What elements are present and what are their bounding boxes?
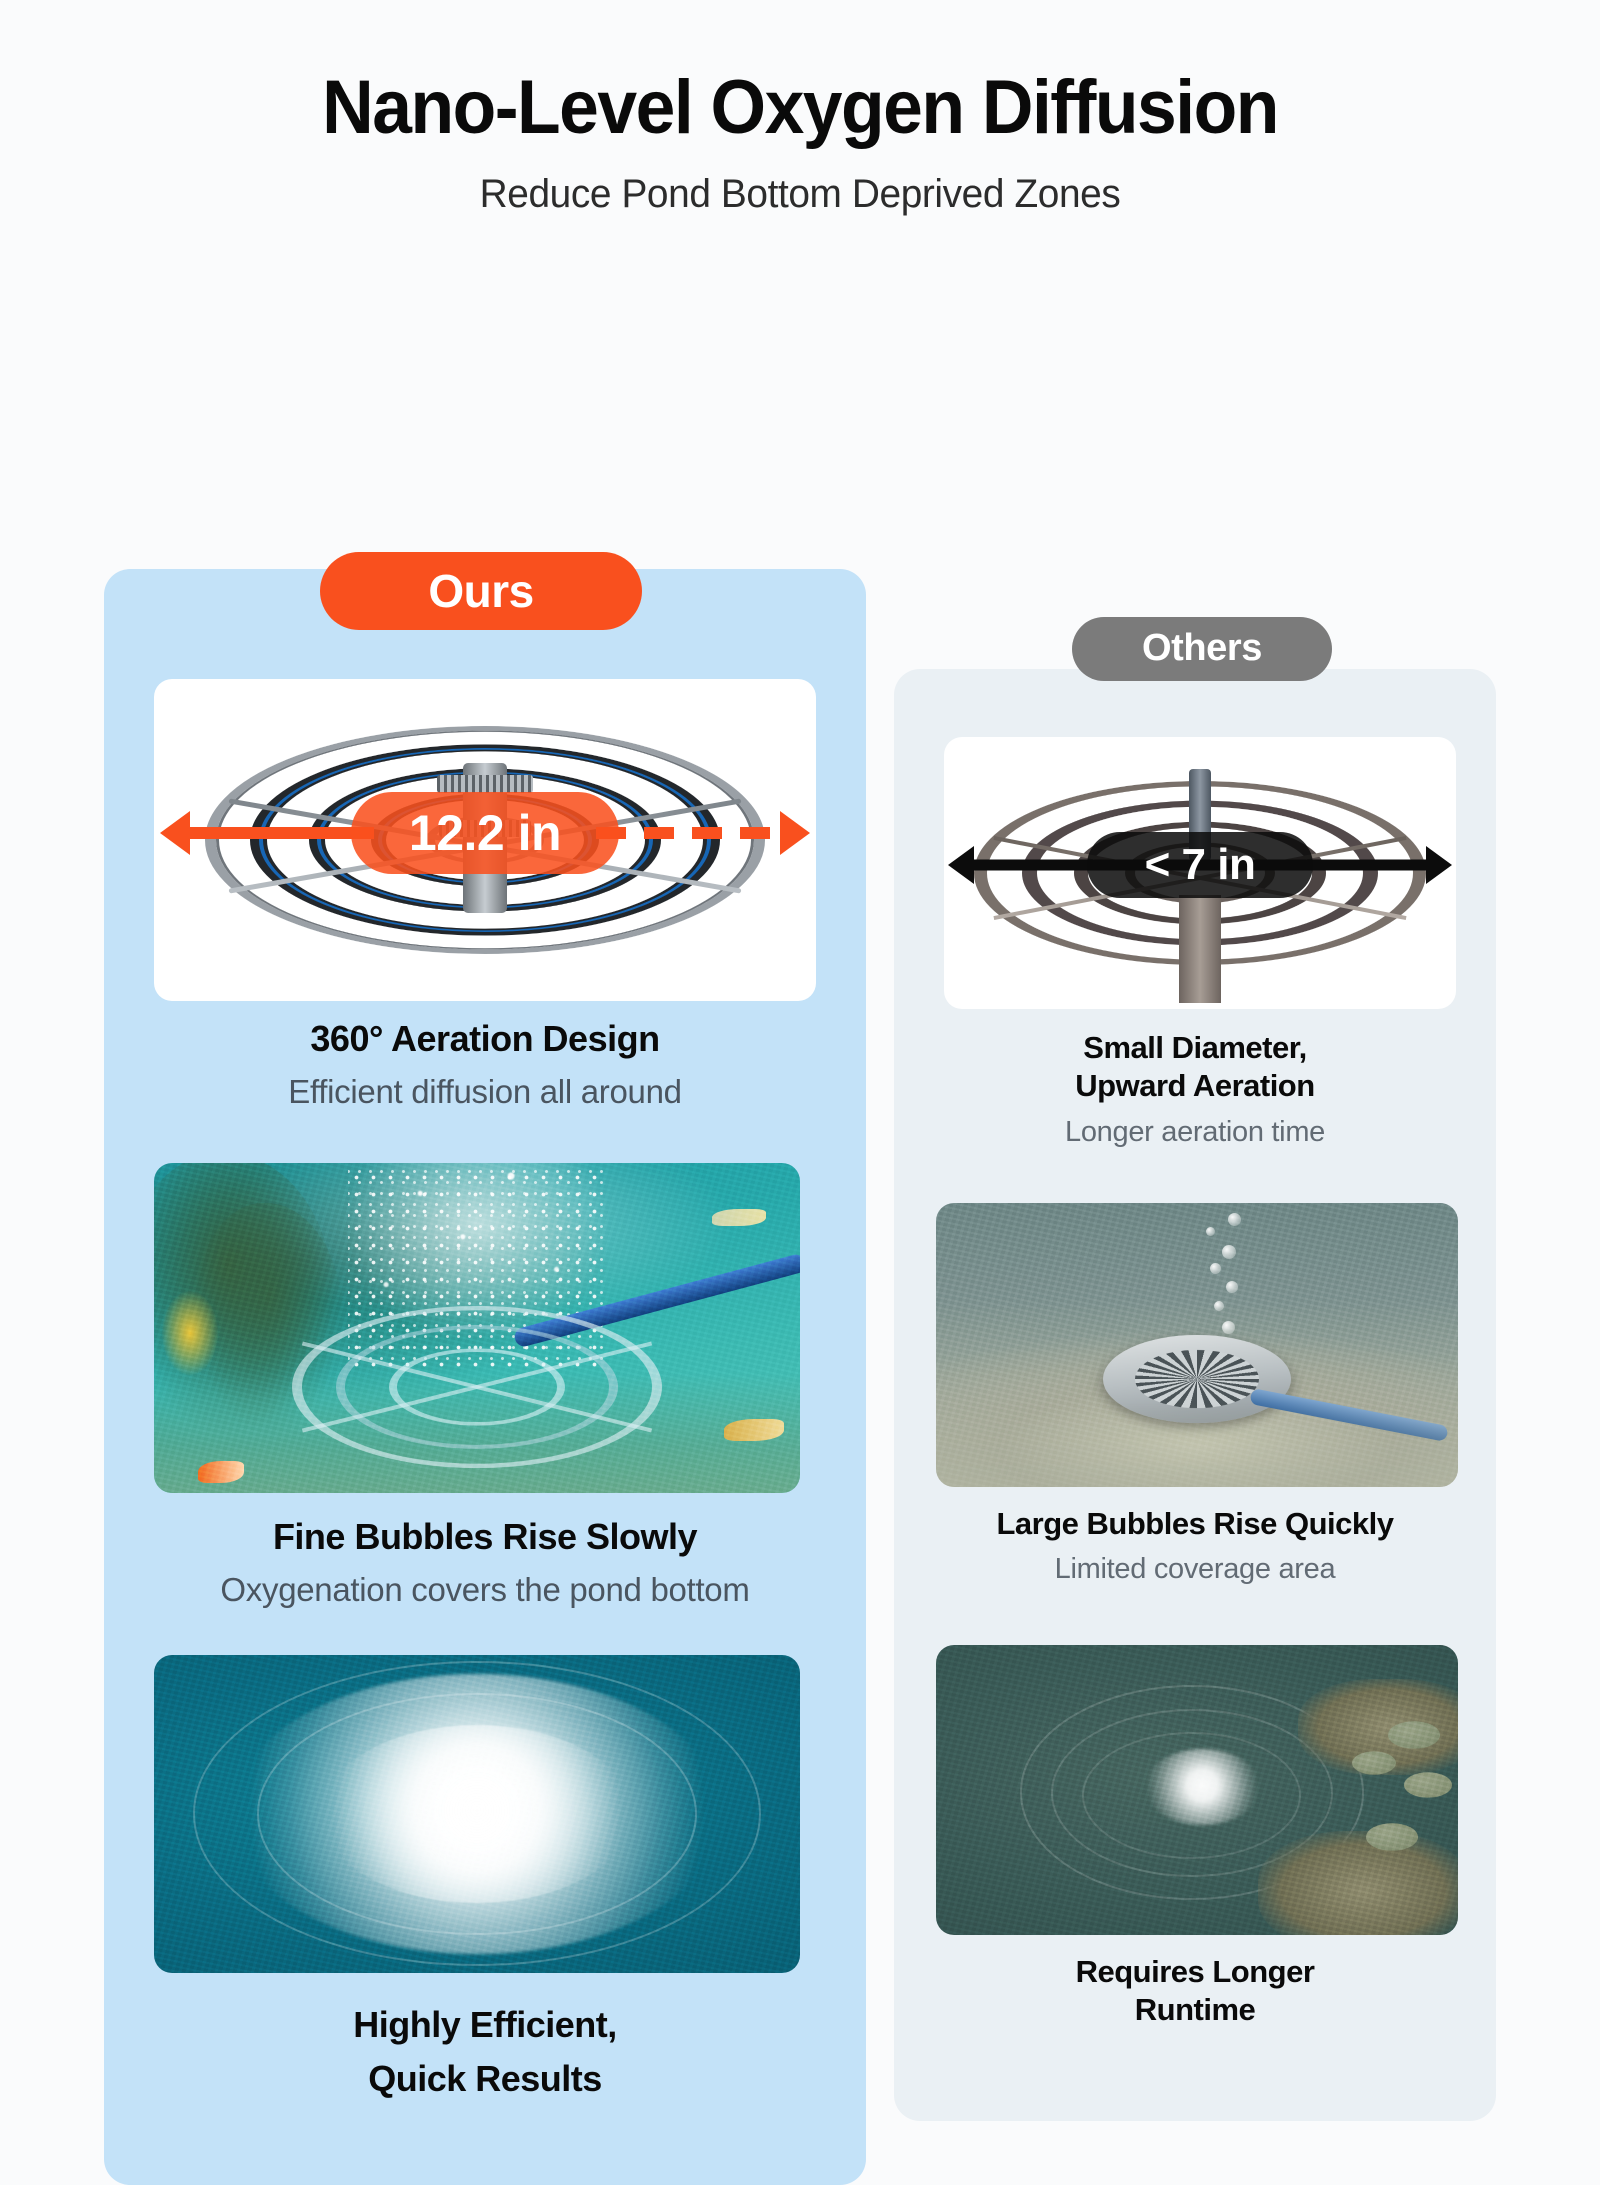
ours-surface-image-card	[154, 1655, 800, 1973]
ring-diffuser-product-photo: 12.2 in	[154, 679, 816, 1001]
others-row2-caption: Large Bubbles Rise Quickly Limited cover…	[894, 1505, 1496, 1589]
underwater-fine-bubbles-photo	[154, 1163, 800, 1493]
others-bubbles-image-card	[936, 1203, 1458, 1487]
others-row1-caption: Small Diameter, Upward Aeration Longer a…	[894, 1029, 1496, 1152]
others-product-image-card: < 7 in	[944, 737, 1456, 1009]
others-row1-subtitle: Longer aeration time	[894, 1114, 1496, 1152]
header: Nano-Level Oxygen Diffusion Reduce Pond …	[0, 0, 1600, 217]
page-title: Nano-Level Oxygen Diffusion	[48, 68, 1552, 148]
others-row3-caption: Requires Longer Runtime	[894, 1953, 1496, 2030]
others-row2-title-line1: Large Bubbles Rise Quickly	[894, 1505, 1496, 1543]
others-row1-title-line2: Upward Aeration	[894, 1067, 1496, 1105]
ours-row3-caption: Highly Efficient, Quick Results	[104, 2003, 866, 2102]
others-row3-title-line1: Requires Longer	[894, 1953, 1496, 1991]
others-dimension-label: < 7 in	[1087, 832, 1313, 898]
ours-dimension-overlay: 12.2 in	[154, 801, 816, 865]
water-surface-large-boil-photo	[154, 1655, 800, 1973]
bubble-column	[1176, 1203, 1266, 1357]
others-surface-image-card	[936, 1645, 1458, 1935]
others-row2-subtitle: Limited coverage area	[894, 1551, 1496, 1589]
others-dimension-overlay: < 7 in	[944, 837, 1456, 893]
ours-row1-title: 360° Aeration Design	[104, 1017, 866, 1062]
ours-row1-subtitle: Efficient diffusion all around	[104, 1071, 866, 1114]
ours-row3-title-line2: Quick Results	[104, 2057, 866, 2102]
others-badge: Others	[1072, 617, 1332, 681]
page-subtitle: Reduce Pond Bottom Deprived Zones	[24, 172, 1576, 217]
ours-bubbles-image-card	[154, 1163, 800, 1493]
comparison-section: Ours Others	[0, 217, 1600, 1857]
ours-row2-title: Fine Bubbles Rise Slowly	[104, 1515, 866, 1560]
underwater-disc-diffuser-photo	[936, 1203, 1458, 1487]
ours-row3-title-line1: Highly Efficient,	[104, 2003, 866, 2048]
ours-product-image-card: 12.2 in	[154, 679, 816, 1001]
ours-row1-caption: 360° Aeration Design Efficient diffusion…	[104, 1017, 866, 1115]
ours-row2-subtitle: Oxygenation covers the pond bottom	[104, 1569, 866, 1612]
ours-row2-caption: Fine Bubbles Rise Slowly Oxygenation cov…	[104, 1515, 866, 1613]
ours-dimension-label: 12.2 in	[351, 792, 619, 874]
rusty-ring-diffuser-product-photo: < 7 in	[944, 737, 1456, 1009]
pond-surface-small-boil-photo	[936, 1645, 1458, 1935]
ours-badge: Ours	[320, 552, 642, 630]
others-row1-title-line1: Small Diameter,	[894, 1029, 1496, 1067]
others-row3-title-line2: Runtime	[894, 1991, 1496, 2029]
